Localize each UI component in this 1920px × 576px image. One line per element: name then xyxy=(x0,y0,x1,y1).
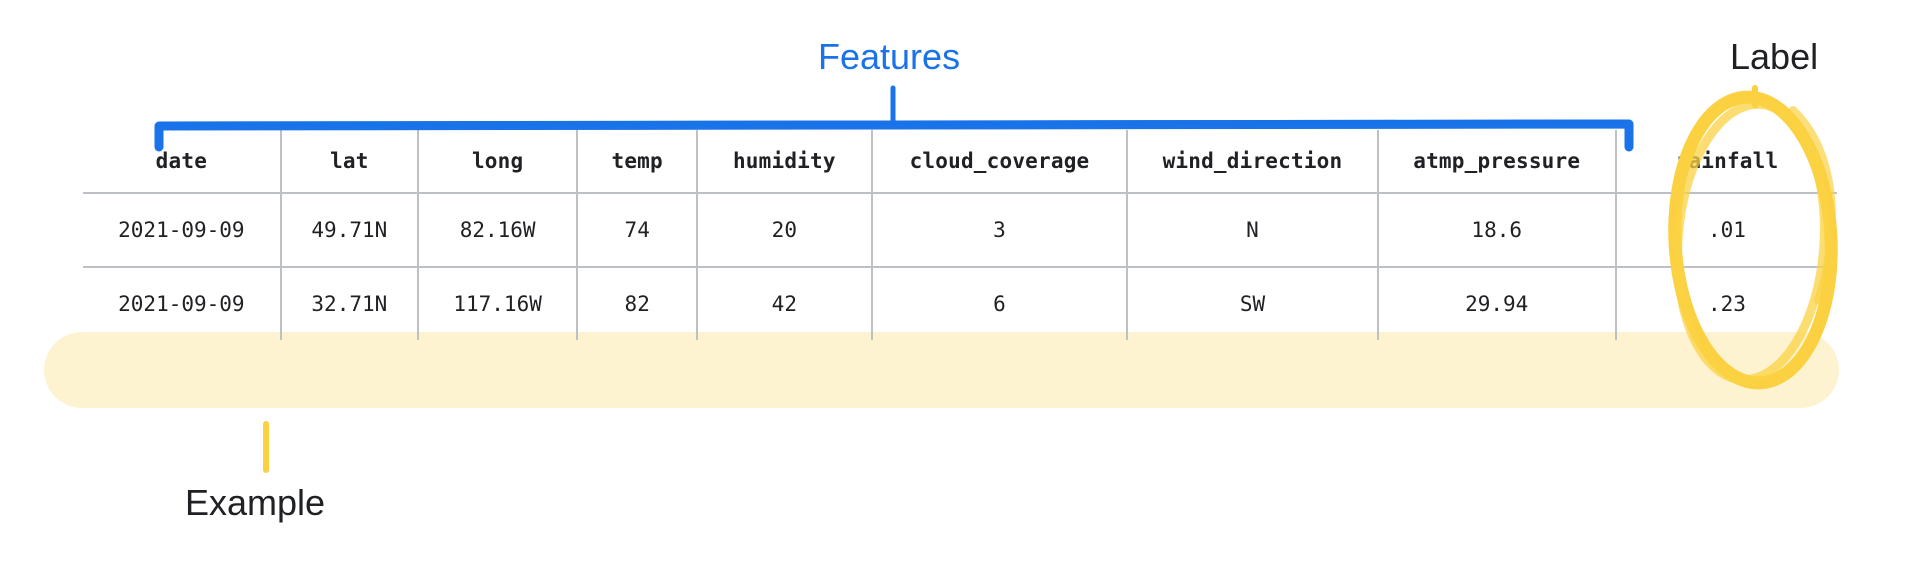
figure-canvas: date lat long temp humidity cloud_covera… xyxy=(0,0,1920,576)
column-header-temp[interactable]: temp xyxy=(577,130,697,193)
example-label: Example xyxy=(185,482,325,524)
column-header-wind-direction[interactable]: wind_direction xyxy=(1127,130,1377,193)
features-label: Features xyxy=(818,36,960,78)
column-header-date[interactable]: date xyxy=(83,130,281,193)
cell-date: 2021-09-09 xyxy=(83,193,281,267)
column-header-long[interactable]: long xyxy=(418,130,577,193)
table-row: 2021-09-09 49.71N 82.16W 74 20 3 N 18.6 … xyxy=(83,193,1837,267)
column-header-rainfall[interactable]: rainfall xyxy=(1616,130,1837,193)
column-header-lat[interactable]: lat xyxy=(281,130,418,193)
cell-long: 117.16W xyxy=(418,267,577,340)
cell-humidity: 20 xyxy=(697,193,871,267)
cell-temp: 74 xyxy=(577,193,697,267)
cell-rainfall: .01 xyxy=(1616,193,1837,267)
cell-long: 82.16W xyxy=(418,193,577,267)
data-table: date lat long temp humidity cloud_covera… xyxy=(83,130,1837,340)
cell-wind-direction: N xyxy=(1127,193,1377,267)
column-header-atmp-pressure[interactable]: atmp_pressure xyxy=(1378,130,1616,193)
column-header-humidity[interactable]: humidity xyxy=(697,130,871,193)
cell-date: 2021-09-09 xyxy=(83,267,281,340)
cell-cloud-coverage: 3 xyxy=(872,193,1128,267)
column-header-cloud-coverage[interactable]: cloud_coverage xyxy=(872,130,1128,193)
table-row: 2021-09-09 32.71N 117.16W 82 42 6 SW 29.… xyxy=(83,267,1837,340)
cell-cloud-coverage: 6 xyxy=(872,267,1128,340)
label-label: Label xyxy=(1730,36,1818,78)
cell-lat: 49.71N xyxy=(281,193,418,267)
cell-wind-direction: SW xyxy=(1127,267,1377,340)
cell-humidity: 42 xyxy=(697,267,871,340)
cell-rainfall: .23 xyxy=(1616,267,1837,340)
table-header-row: date lat long temp humidity cloud_covera… xyxy=(83,130,1837,193)
cell-atmp-pressure: 18.6 xyxy=(1378,193,1616,267)
cell-temp: 82 xyxy=(577,267,697,340)
cell-lat: 32.71N xyxy=(281,267,418,340)
cell-atmp-pressure: 29.94 xyxy=(1378,267,1616,340)
